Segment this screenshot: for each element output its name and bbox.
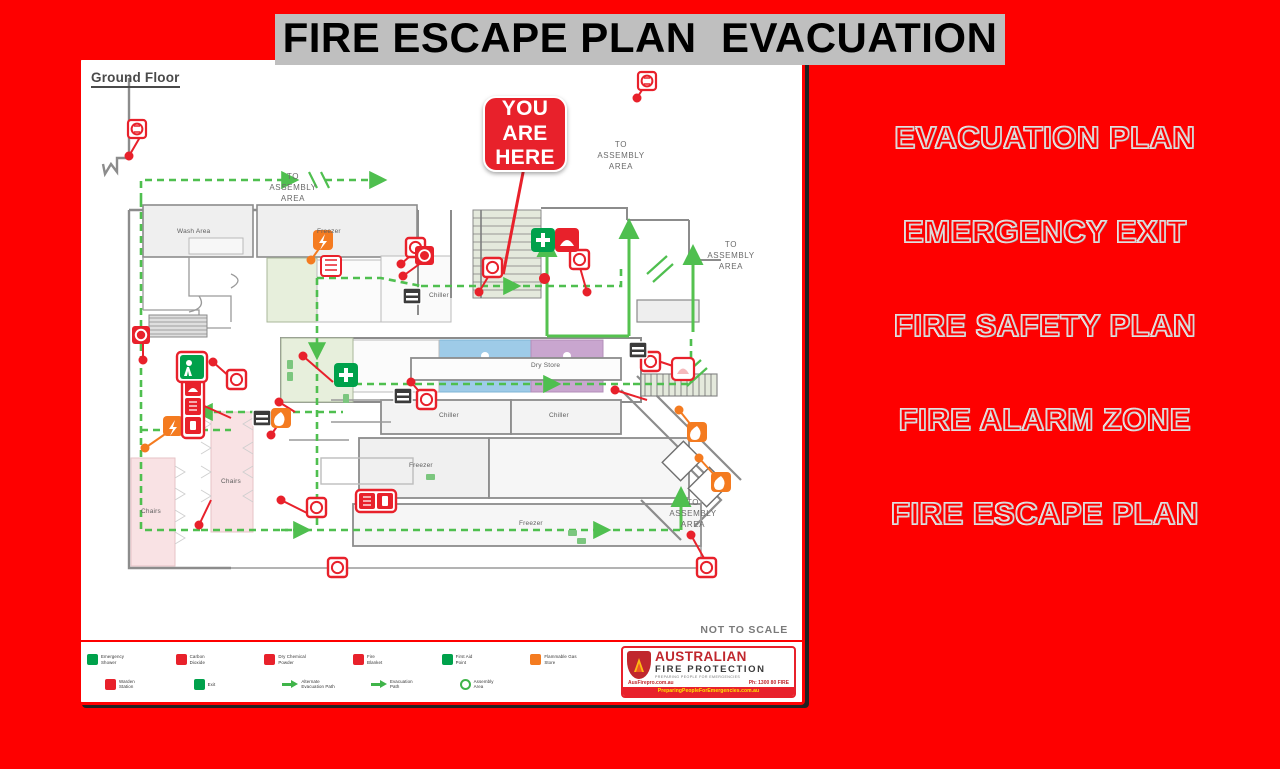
legend-label: Exit xyxy=(208,682,216,688)
legend-label: Evacuation Path xyxy=(390,679,413,690)
brand-name-line1: AUSTRALIAN xyxy=(655,650,766,664)
you-are-here-marker: YOU ARE HERE xyxy=(483,96,567,172)
legend-item-evacuation-path: Evacuation Path xyxy=(353,679,440,690)
legend-label: Flammable Gas Store xyxy=(544,654,576,665)
legend-label: Warden Station xyxy=(119,679,135,690)
legend-item-fire-blanket: Fire Blanket xyxy=(353,654,440,665)
promo-line-fire-alarm-zone: FIRE ALARM ZONE xyxy=(820,402,1270,438)
brand-phone[interactable]: Ph: 1300 80 FIRE xyxy=(749,680,789,686)
brand-website[interactable]: AusFirepro.com.au xyxy=(628,680,674,686)
page-title-floor: Ground Floor xyxy=(91,70,180,88)
legend-label: Emergency Shower xyxy=(101,654,124,665)
promo-line-fire-safety-plan: FIRE SAFETY PLAN xyxy=(820,308,1270,344)
legend-item-assembly-area: Assembly Area xyxy=(442,679,529,690)
brand-wordmark: AUSTRALIAN FIRE PROTECTION PREPARING PEO… xyxy=(655,650,766,680)
assembly-label-1: TO ASSEMBLY AREA xyxy=(253,172,333,204)
legend-item-alternate-evacuation-path: Alternate Evacuation Path xyxy=(264,679,351,690)
assembly-area-icon xyxy=(460,679,471,690)
floor-plan-svg xyxy=(81,60,802,646)
exit-icon xyxy=(194,679,205,690)
assembly-label-2: TO ASSEMBLY AREA xyxy=(581,140,661,172)
not-to-scale-note: NOT TO SCALE xyxy=(700,624,788,636)
brand-block: AUSTRALIAN FIRE PROTECTION PREPARING PEO… xyxy=(621,646,796,698)
assembly-label-3: TO ASSEMBLY AREA xyxy=(691,240,771,272)
you-are-here-location-dot xyxy=(539,273,550,284)
assembly-label-4: TO ASSEMBLY AREA xyxy=(653,498,733,530)
legend-item-emergency-shower: Emergency Shower xyxy=(87,654,174,665)
evacuation-path-arrow-icon xyxy=(371,679,387,690)
legend-label: Alternate Evacuation Path xyxy=(301,679,334,690)
carbon-dioxide-icon xyxy=(176,654,187,665)
legend-strip: Emergency Shower Carbon Dioxide Dry Chem… xyxy=(81,640,802,702)
brand-contact-row: AusFirepro.com.au Ph: 1300 80 FIRE xyxy=(623,680,794,687)
legend-label: First Aid Point xyxy=(456,654,473,665)
promo-list: EVACUATION PLAN EMERGENCY EXIT FIRE SAFE… xyxy=(820,120,1270,532)
legend-grid: Emergency Shower Carbon Dioxide Dry Chem… xyxy=(81,642,621,702)
legend-item-carbon-dioxide: Carbon Dioxide xyxy=(176,654,263,665)
promo-line-emergency-exit: EMERGENCY EXIT xyxy=(820,214,1270,250)
warden-station-icon xyxy=(105,679,116,690)
brand-top-row: AUSTRALIAN FIRE PROTECTION PREPARING PEO… xyxy=(623,648,794,680)
dry-chemical-powder-icon xyxy=(264,654,275,665)
legend-item-dry-chemical-powder: Dry Chemical Powder xyxy=(264,654,351,665)
fire-escape-plan-poster: FIRE ESCAPE PLAN EVACUATION xyxy=(0,0,1280,769)
promo-line-evacuation-plan: EVACUATION PLAN xyxy=(820,120,1270,156)
fire-blanket-icon xyxy=(353,654,364,665)
floor-plan-drawing: Ground Floor TO ASSEMBLY AREA TO ASSEMBL… xyxy=(81,60,802,646)
shield-flame-logo-icon xyxy=(627,651,651,679)
legend-item-exit: Exit xyxy=(176,679,263,690)
legend-item-flammable-gas-store: Flammable Gas Store xyxy=(530,654,617,665)
poster-title-bar: FIRE ESCAPE PLAN EVACUATION xyxy=(0,14,1280,65)
legend-label: Dry Chemical Powder xyxy=(278,654,306,665)
legend-label: Fire Blanket xyxy=(367,654,382,665)
emergency-shower-icon xyxy=(87,654,98,665)
page-title: FIRE ESCAPE PLAN EVACUATION xyxy=(275,14,1006,65)
legend-item-first-aid-point: First Aid Point xyxy=(442,654,529,665)
legend-label: Carbon Dioxide xyxy=(190,654,205,665)
first-aid-icon xyxy=(442,654,453,665)
brand-name-line2: FIRE PROTECTION xyxy=(655,665,766,675)
floor-plan-panel: Ground Floor TO ASSEMBLY AREA TO ASSEMBL… xyxy=(78,57,805,705)
promo-line-fire-escape-plan: FIRE ESCAPE PLAN xyxy=(820,496,1270,532)
legend-item-warden-station: Warden Station xyxy=(87,679,174,690)
brand-banner[interactable]: PreparingPeopleForEmergencies.com.au xyxy=(623,687,794,696)
flammable-gas-icon xyxy=(530,654,541,665)
legend-label: Assembly Area xyxy=(474,679,494,690)
alternate-path-arrow-icon xyxy=(282,679,298,690)
flame-icon xyxy=(634,658,644,672)
